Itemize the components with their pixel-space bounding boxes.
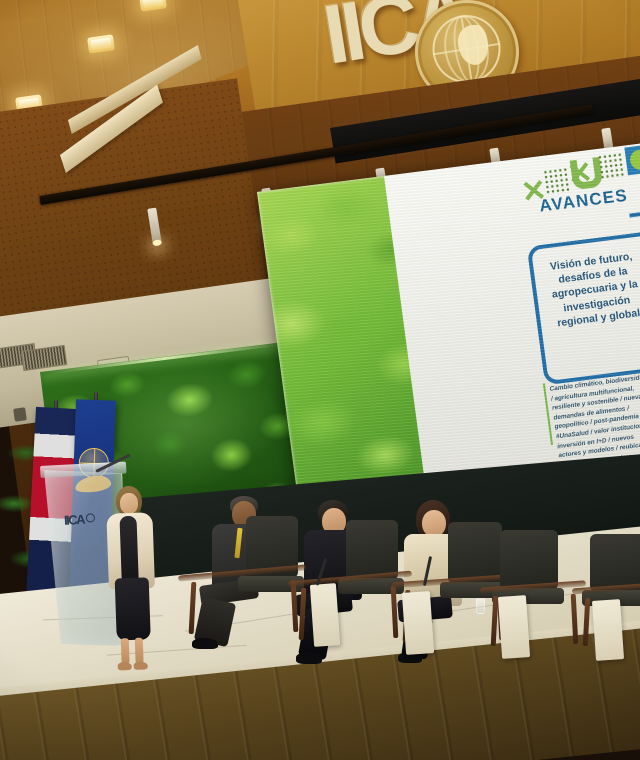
speaker-dress — [119, 516, 138, 583]
side-pedestal — [402, 591, 434, 655]
conference-hall-photo: IICA OEA ✕ ✕ — [0, 0, 640, 760]
panelist-shoe — [192, 638, 218, 649]
speaker-shoe — [134, 661, 148, 669]
panelist-face — [422, 510, 446, 537]
water-glass — [476, 598, 485, 614]
logo-square-icon — [624, 144, 640, 175]
podium-iica-logo: IICA — [64, 511, 96, 528]
logo-dotgrid-icon — [597, 152, 626, 181]
podium-logo-ring-icon — [86, 513, 95, 522]
slide-content-area: ✕ ✕ AVANCES Visión de futuro, desafíos d… — [384, 143, 640, 511]
speaker-leg — [121, 638, 130, 664]
panelist-shoe — [296, 652, 322, 664]
side-pedestal — [498, 595, 530, 659]
slide-card-1: Visión de futuro, desafíos de la agropec… — [539, 248, 640, 331]
speaker-face — [120, 493, 139, 515]
side-pedestal — [592, 599, 624, 661]
speaker-at-podium — [101, 485, 158, 635]
wall-speaker — [13, 407, 27, 422]
speaker-skirt — [115, 577, 151, 640]
speaker-shoe — [118, 662, 132, 670]
speaker-leg — [135, 638, 144, 664]
side-pedestal — [310, 583, 340, 647]
